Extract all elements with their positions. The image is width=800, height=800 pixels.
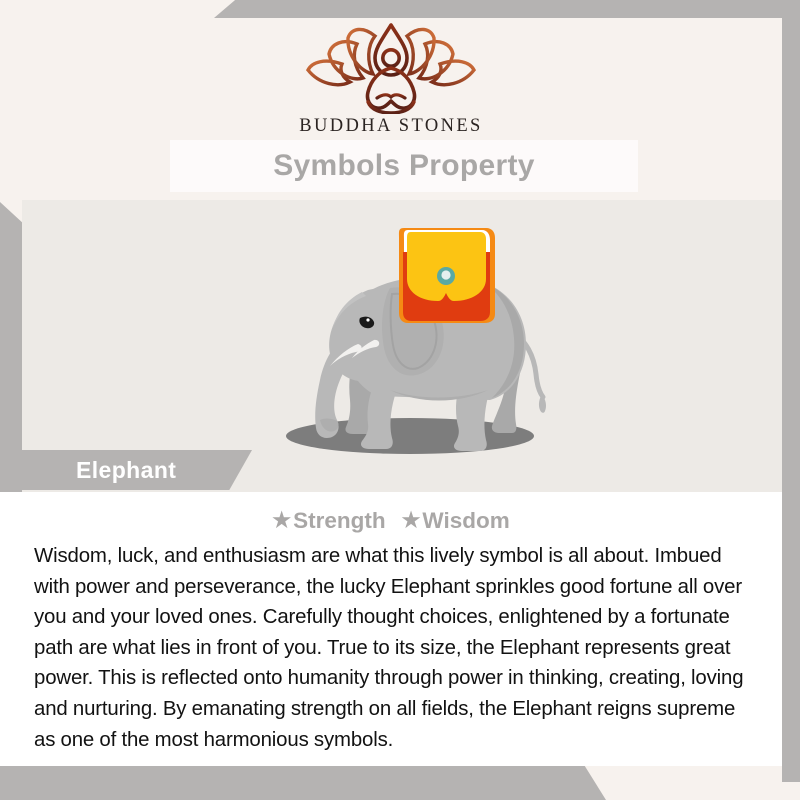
page-title: Symbols Property — [273, 149, 535, 183]
decorative-bottom-bar — [0, 766, 606, 800]
attribute-wisdom-label: Wisdom — [422, 508, 509, 533]
star-icon: ★ — [402, 509, 421, 532]
symbol-label: Elephant — [76, 457, 176, 484]
walking-elephant-illustration — [250, 222, 560, 472]
symbol-label-banner: Elephant — [0, 450, 252, 490]
attribute-strength: ★Strength — [272, 508, 385, 533]
description-panel: ★Strength★Wisdom Wisdom, luck, and enthu… — [0, 492, 782, 766]
attribute-strength-label: Strength — [293, 508, 386, 533]
decorative-top-bar — [214, 0, 800, 18]
brand-header: BUDDHA STONES — [0, 18, 782, 140]
lotus-meditation-icon — [305, 22, 477, 114]
illustration-stage — [22, 200, 782, 492]
title-panel: Symbols Property — [170, 140, 638, 192]
decorative-left-bar — [0, 202, 22, 492]
saddle-yellow — [407, 232, 486, 301]
symbol-property-card: BUDDHA STONES Symbols Property — [0, 0, 800, 800]
attribute-wisdom: ★Wisdom — [402, 508, 510, 533]
star-icon: ★ — [272, 509, 291, 532]
description-text: Wisdom, luck, and enthusiasm are what th… — [0, 534, 782, 755]
decorative-right-bar — [782, 0, 800, 782]
title-band: Symbols Property — [0, 140, 782, 200]
brand-name: BUDDHA STONES — [276, 116, 506, 137]
brand-logo: BUDDHA STONES — [276, 22, 506, 137]
attribute-list: ★Strength★Wisdom — [0, 492, 782, 534]
